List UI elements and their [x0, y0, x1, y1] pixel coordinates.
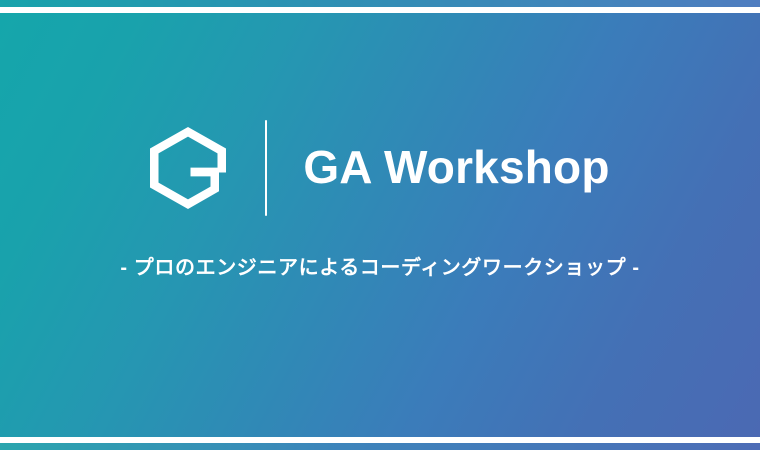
hexagon-g-logo-icon [150, 127, 226, 209]
ga-workshop-banner: GA Workshop - プロのエンジニアによるコーディングワークショップ - [0, 0, 760, 456]
brand-lockup: GA Workshop [0, 118, 760, 218]
top-white-gap [0, 7, 760, 13]
bottom-page-margin [0, 450, 760, 456]
banner-subtitle: - プロのエンジニアによるコーディングワークショップ - [0, 255, 760, 281]
vertical-divider [265, 120, 267, 216]
top-accent-stripe [0, 0, 760, 7]
brand-wordmark: GA Workshop [303, 144, 609, 192]
gradient-panel [0, 13, 760, 437]
bottom-accent-stripe [0, 443, 760, 450]
